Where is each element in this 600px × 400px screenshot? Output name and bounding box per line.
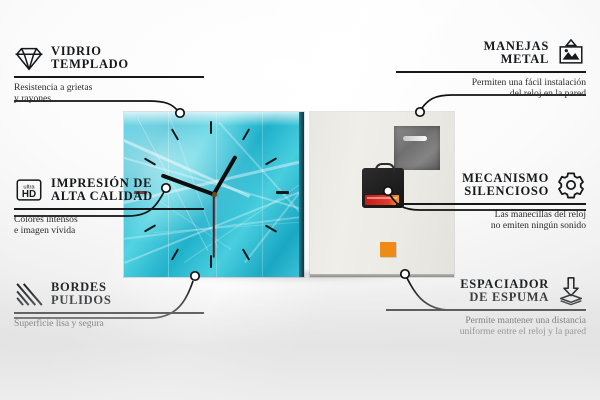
- feature-title-line2: METAL: [484, 53, 549, 67]
- feature-divider: [396, 71, 586, 73]
- battery: [365, 195, 399, 205]
- metal-hanger-plate: [394, 126, 440, 170]
- gear-icon: [556, 170, 586, 200]
- glass-edge: [299, 112, 304, 277]
- feature-subtitle-line2: y rayones: [14, 93, 204, 104]
- feature-bordes-pulidos: BORDES PULIDOS Superficie lisa y segura: [14, 279, 204, 329]
- feature-subtitle-line1: Las manecillas del reloj: [396, 209, 586, 220]
- feature-title-line2: PULIDOS: [51, 294, 111, 308]
- hanger-slot: [403, 136, 427, 141]
- clock-tick: [242, 248, 250, 260]
- feature-divider: [396, 203, 586, 205]
- clock-tick: [242, 128, 250, 140]
- feature-subtitle-line2: uniforme entre el reloj y la pared: [386, 326, 586, 337]
- feature-title-line1: MANEJAS: [484, 40, 549, 54]
- feature-title-line1: MECANISMO: [462, 172, 549, 186]
- feature-divider: [14, 312, 204, 314]
- hanging-picture-frame-icon: [556, 38, 586, 68]
- clock-tick: [210, 121, 212, 134]
- diagonal-stripes-icon: [14, 279, 44, 309]
- feature-title-line1: IMPRESIÓN DE: [51, 177, 153, 191]
- feature-vidrio-templado: VIDRIO TEMPLADO Resistencia a grietas y …: [14, 43, 204, 104]
- feature-title-line1: VIDRIO: [51, 45, 129, 59]
- feature-espaciador-espuma: ESPACIADOR DE ESPUMA Permite mantener un…: [386, 276, 586, 337]
- feature-title-line1: ESPACIADOR: [460, 278, 549, 292]
- feature-title-line2: TEMPLADO: [51, 58, 129, 72]
- ultra-hd-icon: ultra HD: [14, 175, 44, 205]
- feature-subtitle-line1: Superficie lisa y segura: [14, 318, 204, 329]
- feature-subtitle-line1: Colores intensos: [14, 214, 204, 225]
- diamond-icon: [14, 43, 44, 73]
- feature-subtitle-line2: e imagen vívida: [14, 225, 204, 236]
- feature-divider: [14, 208, 204, 210]
- feature-title-line2: SILENCIOSO: [462, 185, 549, 199]
- foam-spacer: [380, 242, 396, 257]
- feature-manejas-metal: MANEJAS METAL Permiten una fácil instala…: [396, 38, 586, 99]
- product-infographic: VIDRIO TEMPLADO Resistencia a grietas y …: [0, 0, 600, 400]
- feature-divider: [14, 76, 204, 78]
- mechanism-hook: [375, 163, 395, 172]
- feature-title-line2: DE ESPUMA: [460, 291, 549, 305]
- feature-subtitle-line2: no emiten ningún sonido: [396, 220, 586, 231]
- clock-tick: [171, 248, 179, 260]
- down-arrow-layers-icon: [556, 276, 586, 306]
- hour-hand: [212, 155, 238, 195]
- feature-subtitle-line1: Permite mantener una distancia: [386, 315, 586, 326]
- ultra-hd-icon-large-text: HD: [22, 189, 36, 200]
- feature-subtitle-line2: del reloj en la pared: [396, 88, 586, 99]
- feature-impresion-alta-calidad: ultra HD IMPRESIÓN DE ALTA CALIDAD Color…: [14, 175, 204, 236]
- feature-mecanismo-silencioso: MECANISMO SILENCIOSO Las manecillas del …: [396, 170, 586, 231]
- clock-tick: [265, 157, 277, 165]
- clock-tick: [171, 128, 179, 140]
- clock-tick: [276, 191, 289, 194]
- clock-center-pivot: [212, 192, 217, 197]
- battery-label-stripe: [367, 197, 397, 199]
- feature-divider: [386, 309, 586, 311]
- feature-subtitle-line1: Resistencia a grietas: [14, 82, 204, 93]
- feature-title-line2: ALTA CALIDAD: [51, 190, 153, 204]
- clock-tick: [210, 255, 212, 268]
- clock-tick: [144, 157, 156, 165]
- second-hand: [213, 195, 215, 258]
- feature-title-line1: BORDES: [51, 281, 111, 295]
- feature-subtitle-line1: Permiten una fácil instalación: [396, 77, 586, 88]
- clock-tick: [265, 224, 277, 232]
